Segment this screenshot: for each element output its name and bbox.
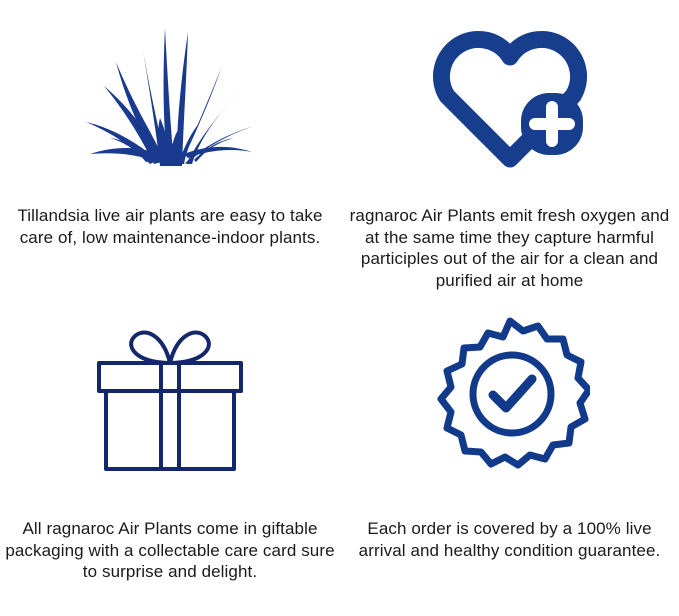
verified-badge-icon-wrap — [340, 308, 679, 473]
feature-cell-live-arrival-guarantee: Each order is covered by a 100% live arr… — [340, 308, 679, 616]
verified-badge-icon — [430, 315, 590, 473]
feature-cell-fresh-oxygen: ragnaroc Air Plants emit fresh oxygen an… — [340, 0, 679, 308]
feature-caption: ragnaroc Air Plants emit fresh oxygen an… — [345, 174, 675, 291]
feature-cell-air-plant: Tillandsia live air plants are easy to t… — [0, 0, 340, 308]
feature-grid: Tillandsia live air plants are easy to t… — [0, 0, 679, 616]
gift-box-icon-wrap — [0, 308, 340, 473]
feature-cell-giftable-packaging: All ragnaroc Air Plants come in giftable… — [0, 308, 340, 616]
gift-box-icon — [85, 323, 255, 473]
air-plant-icon — [80, 14, 260, 174]
feature-caption: All ragnaroc Air Plants come in giftable… — [3, 473, 337, 583]
feature-caption: Each order is covered by a 100% live arr… — [344, 473, 676, 561]
heart-plus-icon — [425, 19, 595, 174]
air-plant-icon-wrap — [0, 0, 340, 174]
heart-plus-icon-wrap — [340, 0, 679, 174]
feature-caption: Tillandsia live air plants are easy to t… — [3, 174, 337, 248]
